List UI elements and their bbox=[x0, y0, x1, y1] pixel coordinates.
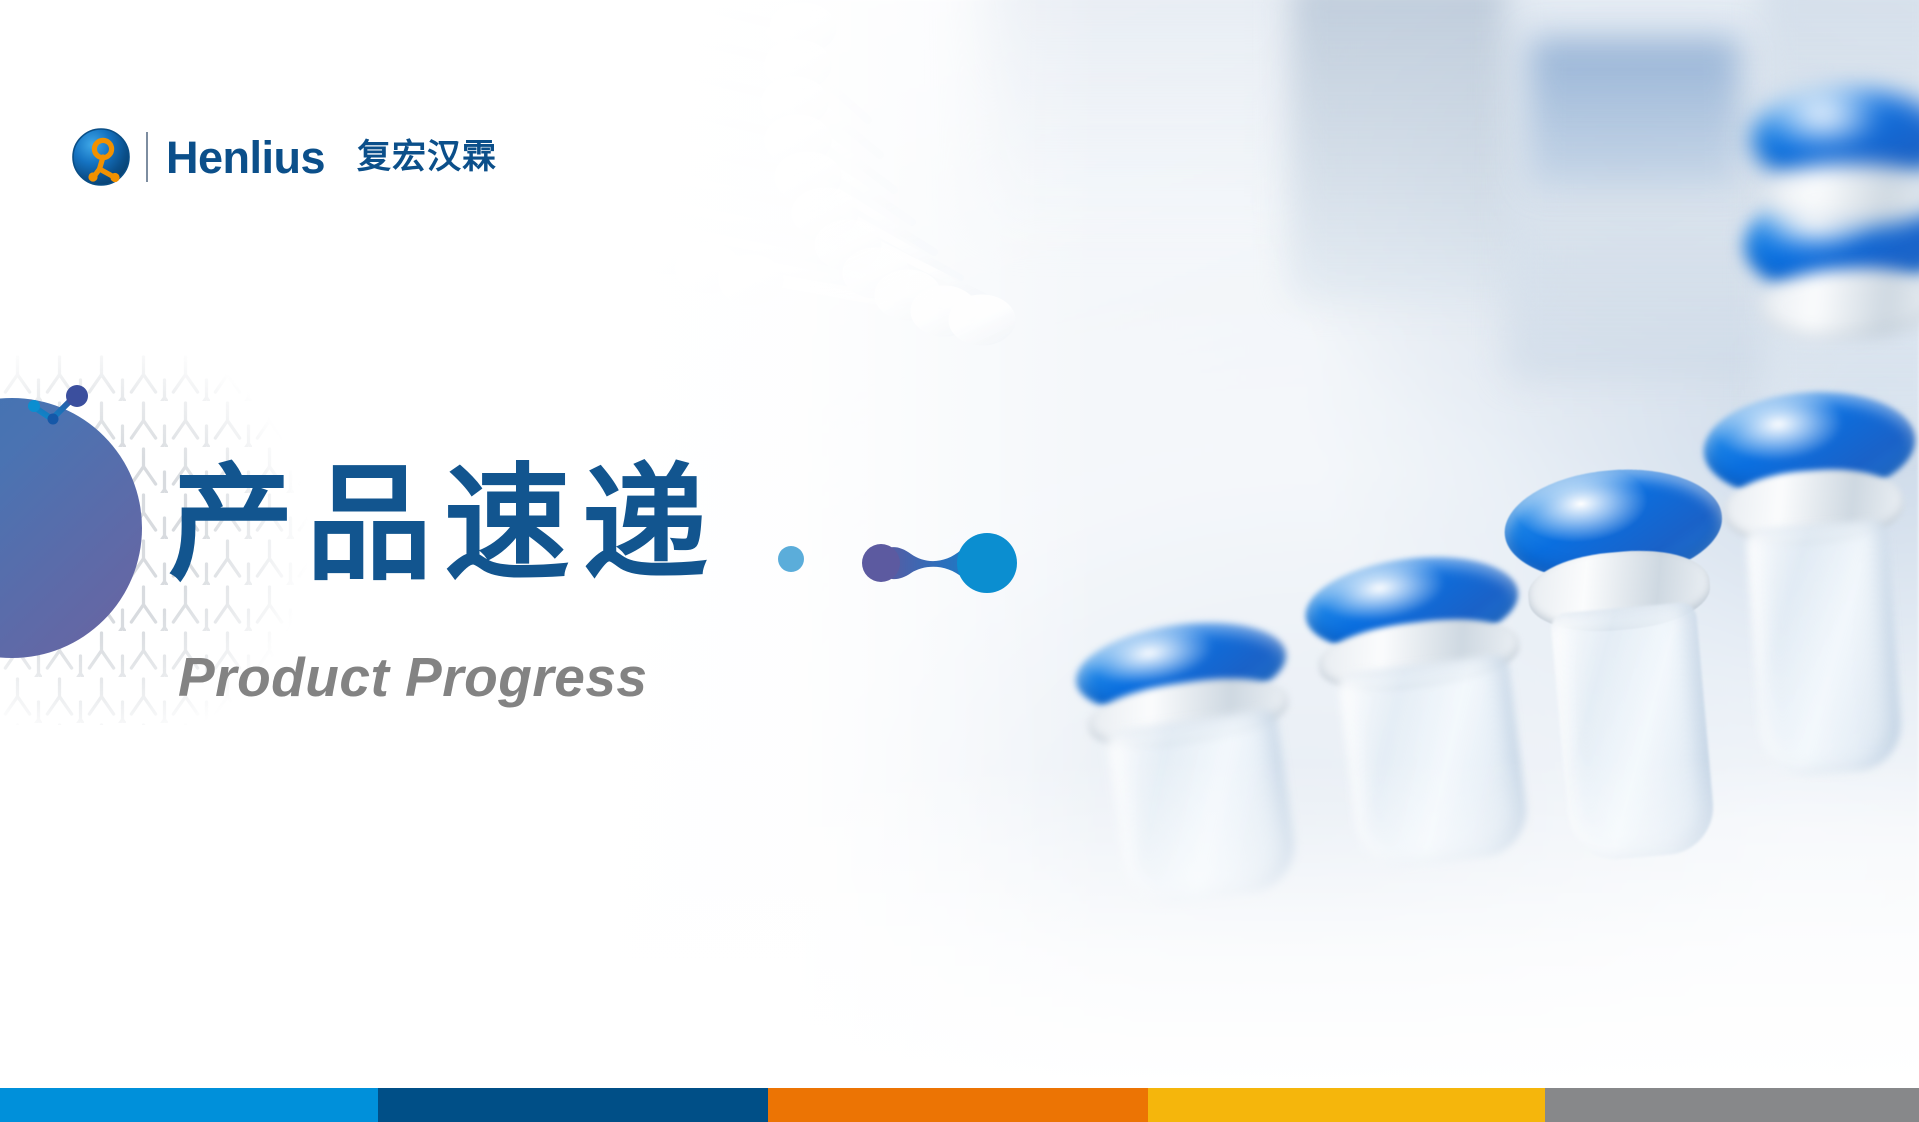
presentation-title-slide: Henlius 复宏汉霖 产品速递 Product Progress bbox=[0, 0, 1919, 1122]
bar-segment-orange bbox=[768, 1088, 1148, 1122]
slide-title-chinese: 产品速递 bbox=[168, 462, 720, 588]
logo-divider bbox=[146, 132, 148, 182]
bar-segment-gold bbox=[1148, 1088, 1545, 1122]
logo-wordmark: Henlius bbox=[166, 135, 325, 180]
blurred-bottle bbox=[1290, 0, 1540, 304]
bar-segment-gray bbox=[1545, 1088, 1919, 1122]
molecule-dumbbell-icon bbox=[845, 528, 1025, 598]
bar-segment-light-blue bbox=[0, 1088, 378, 1122]
henlius-logo[interactable]: Henlius 复宏汉霖 bbox=[72, 126, 497, 188]
accent-dot bbox=[778, 546, 804, 572]
slide-subtitle-english: Product Progress bbox=[178, 650, 648, 705]
blurred-bottle bbox=[1530, 38, 1740, 188]
logo-chinese-name: 复宏汉霖 bbox=[357, 140, 497, 174]
bar-segment-dark-blue bbox=[378, 1088, 768, 1122]
bottom-color-bar bbox=[0, 1088, 1919, 1122]
henlius-molecule-emblem-icon bbox=[72, 128, 130, 186]
photo-bottom-fade bbox=[560, 760, 1919, 1090]
molecule-icon bbox=[28, 385, 90, 433]
